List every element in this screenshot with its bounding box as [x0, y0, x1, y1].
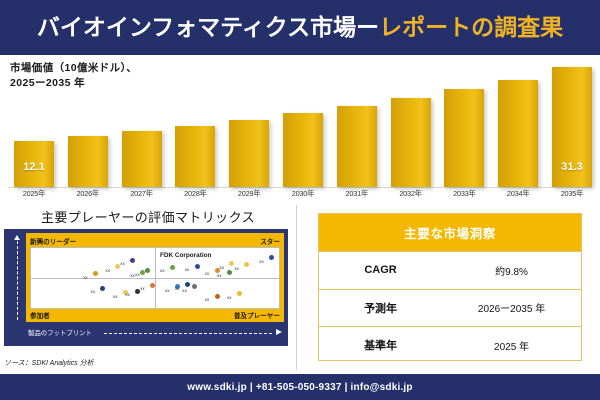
matrix-data-point-label: xx: [83, 275, 88, 280]
matrix-data-point-label: xx: [160, 268, 165, 273]
bar-value-label: 31.3: [552, 161, 592, 173]
matrix-data-point: [195, 264, 200, 269]
bar: [283, 113, 323, 187]
bar: 12.1: [14, 141, 54, 187]
bar: [391, 98, 431, 187]
player-matrix-panel: 主要プレーヤーの評価マトリックス 市場シェア・順位 新興のリーダー スター 参加…: [0, 205, 297, 370]
arrow-up-icon: [14, 235, 20, 240]
key-insights-row-key: 予測年: [319, 300, 442, 316]
x-axis-label: 2035年: [552, 189, 592, 203]
key-insights-rows: CAGR約9.8%予測年2026ー2035 年基準年2025 年: [319, 251, 581, 364]
matrix-data-point: [100, 286, 105, 291]
page-title-primary: バイオインフォマティクス市場ー: [37, 14, 379, 40]
bar: [68, 136, 108, 187]
bar: [175, 126, 215, 187]
bar-chart: 市場価値（10億米ドル）、 2025ー2035 年 12.131.3 2025年…: [0, 55, 600, 205]
matrix-band: 新興のリーダー スター 参加者 普及プレーヤー FDK Corporation …: [26, 233, 284, 322]
page-title-accent: レポートの調査果: [379, 14, 563, 40]
matrix-data-point-label: xx: [205, 271, 210, 276]
matrix-data-point-label: xx: [185, 267, 190, 272]
matrix-data-point: [215, 294, 220, 299]
matrix-data-point: [185, 282, 190, 287]
x-axis-label: 2034年: [498, 189, 538, 203]
x-axis-label: 2032年: [391, 189, 431, 203]
x-axis-label: 2025年: [14, 189, 54, 203]
quadrant-label-stars: スター: [260, 236, 280, 246]
matrix-data-point: [192, 284, 197, 289]
source-note: ソース：SDKI Analytics 分析: [4, 358, 94, 368]
matrix-annotation-fdk: FDK Corporation: [160, 252, 211, 259]
matrix-frame: 市場シェア・順位 新興のリーダー スター 参加者 普及プレーヤー FDK Cor…: [4, 229, 288, 346]
matrix-y-axis: 市場シェア・順位: [7, 233, 25, 322]
quadrant-label-emerging-leaders: 新興のリーダー: [30, 236, 76, 246]
key-insights-row-value: 2026ー2035 年: [442, 300, 581, 315]
key-insights-table: 主要な市場洞察 CAGR約9.8%予測年2026ー2035 年基準年2025 年: [318, 213, 582, 361]
matrix-x-axis-label: 製品のフットプリント: [28, 328, 92, 337]
bar-column: 31.3: [552, 61, 592, 187]
matrix-data-point: [130, 258, 135, 263]
bar-column: [498, 61, 538, 187]
arrow-right-icon: [276, 329, 282, 335]
x-axis-label: 2033年: [444, 189, 484, 203]
key-insights-row-key: CAGR: [319, 264, 442, 276]
x-axis-label: 2029年: [229, 189, 269, 203]
x-axis-label: 2031年: [337, 189, 377, 203]
key-insights-row: CAGR約9.8%: [319, 251, 581, 289]
matrix-data-point-label: xx: [175, 286, 180, 291]
x-axis-label: 2026年: [68, 189, 108, 203]
bar: [122, 131, 162, 187]
x-axis-label: 2030年: [283, 189, 323, 203]
x-axis-dashed-line: [104, 333, 272, 334]
matrix-data-point-label: xx: [259, 259, 264, 264]
chart-x-axis-labels: 2025年2026年2027年2028年2029年2030年2031年2032年…: [14, 189, 592, 203]
bar-column: [283, 61, 323, 187]
matrix-data-point-label: xx: [205, 297, 210, 302]
header-banner: バイオインフォマティクス市場ーレポートの調査果: [0, 0, 600, 55]
key-insights-row-key: 基準年: [319, 337, 442, 353]
matrix-plot-area: FDK Corporation xxxxxxxxxxxxxxxxxxxxxxxx…: [30, 247, 280, 309]
matrix-data-point-label: xx: [120, 261, 125, 266]
matrix-data-point-label: xx: [130, 273, 135, 278]
matrix-title: 主要プレーヤーの評価マトリックス: [0, 207, 296, 226]
matrix-data-point-label: xx: [219, 265, 224, 270]
bar: [337, 106, 377, 187]
matrix-data-point-label: xx: [165, 288, 170, 293]
key-insights-row-value: 2025 年: [442, 338, 581, 353]
matrix-data-point: [115, 264, 120, 269]
matrix-data-point-label: xx: [91, 289, 96, 294]
matrix-data-point-label: xx: [234, 266, 239, 271]
matrix-data-point-label: xx: [105, 268, 110, 273]
matrix-x-axis: 製品のフットプリント: [26, 324, 284, 344]
matrix-data-point-label: xx: [182, 288, 187, 293]
matrix-data-point: [269, 255, 274, 260]
matrix-data-point: [93, 271, 98, 276]
matrix-data-point: [150, 283, 155, 288]
matrix-data-point: [145, 268, 150, 273]
bar: [444, 89, 484, 187]
matrix-data-point: [215, 268, 220, 273]
infographic-page: バイオインフォマティクス市場ーレポートの調査果 市場価値（10億米ドル）、 20…: [0, 0, 600, 400]
key-insights-row: 予測年2026ー2035 年: [319, 289, 581, 327]
quadrant-label-pervasive-players: 普及プレーヤー: [234, 310, 280, 320]
matrix-data-point-label: xx: [135, 272, 140, 277]
quadrant-label-participants: 参加者: [30, 310, 50, 320]
matrix-data-point-label: xx: [140, 286, 145, 291]
matrix-data-point: [237, 291, 242, 296]
x-axis-label: 2027年: [122, 189, 162, 203]
matrix-data-point-label: xx: [217, 273, 222, 278]
bar: 31.3: [552, 67, 592, 187]
bar-column: [122, 61, 162, 187]
bar-column: [337, 61, 377, 187]
matrix-data-point-label: xx: [113, 294, 118, 299]
x-axis-label: 2028年: [175, 189, 215, 203]
matrix-data-point-label: xx: [227, 295, 232, 300]
bar: [498, 80, 538, 187]
bar-column: 12.1: [14, 61, 54, 187]
chart-bars-container: 12.131.3: [14, 61, 592, 187]
bar-column: [229, 61, 269, 187]
matrix-data-point: [244, 262, 249, 267]
key-insights-row-value: 約9.8%: [442, 263, 581, 278]
matrix-data-point-label: xx: [125, 292, 130, 297]
footer-banner: www.sdki.jp | +81-505-050-9337 | info@sd…: [0, 374, 600, 400]
bar-value-label: 12.1: [14, 161, 54, 173]
matrix-data-point: [170, 265, 175, 270]
matrix-horizontal-divider: [31, 278, 279, 279]
page-title: バイオインフォマティクス市場ーレポートの調査果: [37, 16, 563, 39]
key-insights-row: 基準年2025 年: [319, 326, 581, 364]
footer-contact: www.sdki.jp | +81-505-050-9337 | info@sd…: [187, 382, 412, 393]
bar-column: [68, 61, 108, 187]
bar-column: [444, 61, 484, 187]
key-insights-header: 主要な市場洞察: [319, 214, 581, 251]
bar-column: [391, 61, 431, 187]
chart-baseline: [8, 187, 592, 188]
bar: [229, 120, 269, 187]
matrix-data-point: [227, 270, 232, 275]
bar-column: [175, 61, 215, 187]
y-axis-dashed-line: [17, 241, 18, 320]
